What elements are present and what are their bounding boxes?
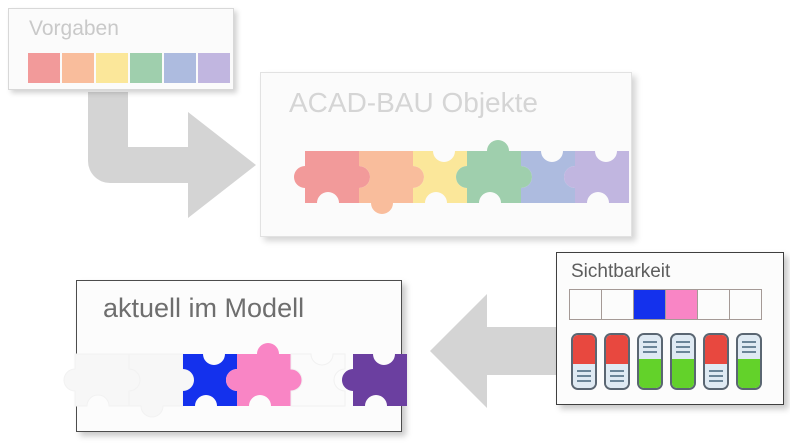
color-cell-4[interactable] xyxy=(665,289,698,320)
color-cell-1[interactable] xyxy=(569,289,602,320)
color-cell-2[interactable] xyxy=(601,289,634,320)
panel-aktuell-im-modell: aktuell im Modell xyxy=(76,280,402,432)
panel-sichtbarkeit-title: Sichtbarkeit xyxy=(571,261,670,283)
swatch-violet[interactable] xyxy=(198,53,230,83)
puzzle-piece-green[interactable] xyxy=(456,140,532,203)
sichtbarkeit-toggle-row xyxy=(571,333,762,390)
arrow-sichtbarkeit-to-modell xyxy=(430,294,565,409)
swatch-orange[interactable] xyxy=(62,53,94,83)
color-cell-3[interactable] xyxy=(633,289,666,320)
visibility-toggle-4[interactable] xyxy=(670,333,696,390)
swatch-yellow[interactable] xyxy=(96,53,128,83)
panel-acad-title: ACAD-BAU Objekte xyxy=(289,87,538,119)
panel-vorgaben: Vorgaben xyxy=(8,8,234,90)
puzzle-piece-purple[interactable] xyxy=(342,354,407,406)
swatch-red[interactable] xyxy=(28,53,60,83)
acad-puzzle-row xyxy=(283,133,623,228)
panel-sichtbarkeit: Sichtbarkeit xyxy=(556,252,784,405)
arrow-vorgaben-to-acad xyxy=(88,92,268,222)
visibility-toggle-2[interactable] xyxy=(604,333,630,390)
swatch-green[interactable] xyxy=(130,53,162,83)
modell-puzzle-row xyxy=(53,336,413,431)
color-cell-6[interactable] xyxy=(729,289,762,320)
visibility-toggle-6[interactable] xyxy=(736,333,762,390)
puzzle-piece-red[interactable] xyxy=(294,151,370,203)
panel-acad-bau-objekte: ACAD-BAU Objekte xyxy=(260,72,632,237)
vorgaben-swatch-row xyxy=(28,53,230,83)
visibility-toggle-1[interactable] xyxy=(571,333,597,390)
panel-modell-title: aktuell im Modell xyxy=(103,293,304,324)
visibility-toggle-3[interactable] xyxy=(637,333,663,390)
color-cell-5[interactable] xyxy=(697,289,730,320)
sichtbarkeit-color-row xyxy=(569,289,761,320)
panel-vorgaben-title: Vorgaben xyxy=(29,17,119,41)
visibility-toggle-5[interactable] xyxy=(703,333,729,390)
diagram-canvas: Vorgaben ACAD-BAU Objekte xyxy=(0,0,790,444)
swatch-blue[interactable] xyxy=(164,53,196,83)
